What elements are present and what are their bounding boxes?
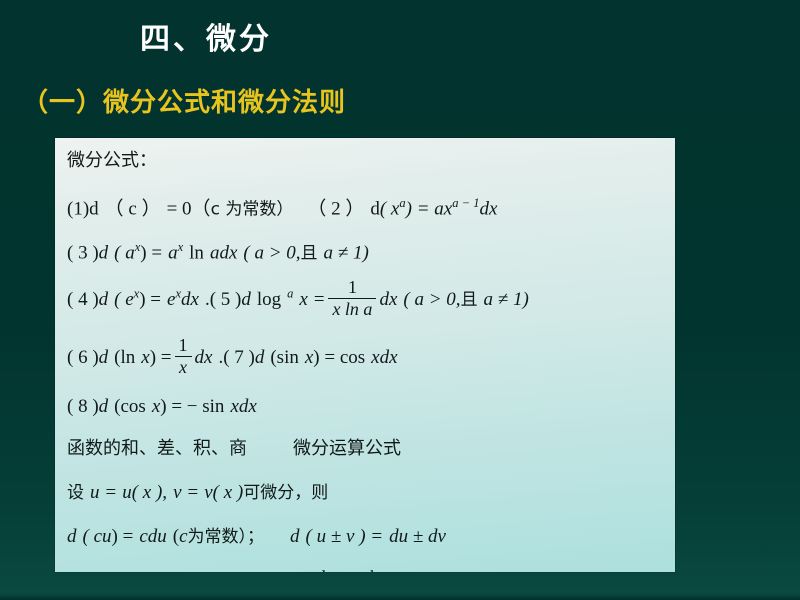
formula-3-d: d: [99, 242, 109, 263]
assume-vfn: v: [204, 482, 212, 503]
formula-6-d: d: [99, 347, 109, 368]
formula-2-dx: dx: [479, 198, 497, 219]
rule-cu-eq: ) =: [112, 526, 134, 547]
formula-8-eqsin: ) = − sin: [160, 396, 224, 417]
formula-4-close: ) =: [139, 289, 161, 310]
formula-2-d: d: [370, 198, 380, 219]
formula-3-cond: ( a > 0,: [243, 242, 300, 263]
formula-7-d: d: [255, 347, 265, 368]
formula-3-close: ) =: [140, 242, 162, 263]
rule-cu-arg: ( cu: [83, 526, 112, 547]
formula-2-rhs: ) = ax: [406, 198, 453, 219]
assume-eq1: =: [106, 482, 117, 503]
formula-1-eq: = 0（: [167, 198, 211, 219]
formula-panel: 微分公式： (1)d（ c ）= 0（c 为常数）（ 2 ）d( xa) = a…: [55, 138, 675, 572]
formula-line-6: 函数的和、差、积、商微分运算公式: [67, 434, 669, 476]
formula-3-a: a: [168, 242, 178, 263]
formula-5-label: .( 5 ): [205, 289, 241, 310]
rule-quot-arg-fraction: uv: [259, 571, 276, 573]
formula-2-exp-am1: a − 1: [452, 196, 479, 210]
formula-5-qie: 且: [461, 290, 478, 310]
formula-8-x: x: [152, 396, 160, 417]
formula-3-ln: ln: [189, 242, 204, 263]
page-title: 四、微分: [140, 20, 272, 60]
rule-quot-arg-numerator: u: [259, 571, 276, 573]
formula-1-note: c 为常数）: [211, 199, 294, 219]
formula-1-arg: （ c ）: [105, 198, 161, 219]
rule-sum-rhs: du ± dv: [389, 526, 446, 547]
rule-cu-semicolon: ；: [247, 527, 264, 547]
formula-5-cond2: a ≠ 1): [484, 289, 529, 310]
formula-7-xdx: xdx: [371, 347, 397, 368]
formula-content: 微分公式： (1)d（ c ）= 0（c 为常数）（ 2 ）d( xa) = a…: [67, 144, 669, 572]
assume-vx: ( x ): [213, 482, 244, 503]
formula-6-label: ( 6 ): [67, 347, 99, 368]
formula-6-fraction: 1x: [175, 336, 192, 377]
formula-8-d: d: [99, 396, 109, 417]
formula-3-cond2: a ≠ 1): [324, 242, 369, 263]
formula-6-ln: (ln: [114, 347, 135, 368]
formula-6-x: x: [141, 347, 149, 368]
rule-cu-rhs: cdu: [139, 526, 166, 547]
formula-4-d: d: [99, 289, 109, 310]
formula-line-5: ( 8 )d(cosx) = − sinxdx: [67, 390, 669, 434]
assume-eq2: =: [188, 482, 199, 503]
assume-she: 设: [67, 483, 84, 503]
rule-cu-note: 为常数）: [188, 527, 248, 547]
rule-cu-c: c: [179, 526, 187, 547]
rule-quot-fraction: vdu − udvv2: [304, 568, 385, 572]
formula-3-open: ( a: [114, 242, 135, 263]
formula-2-label: （ 2 ）: [307, 198, 364, 219]
formula-1-label: (1)d: [67, 198, 99, 219]
formula-3-exp-x2: x: [178, 240, 184, 254]
formula-8-label: ( 8 ): [67, 396, 99, 417]
section-subtitle: （一）微分公式和微分法则: [22, 86, 346, 120]
formula-line-8: d( cu) =cdu(c为常数）；d( u ± v ) =du ± dv: [67, 520, 669, 564]
formula-7-eqcos: ) = cos: [313, 347, 365, 368]
formula-3-adx: adx: [210, 242, 237, 263]
formula-5-base-a: a: [287, 287, 293, 301]
formula-line-9: d( uv) =vdu+udv;d(uv) =vdu − udvv2(v≠ 0): [67, 564, 669, 572]
rule-quot-numerator: vdu − udv: [304, 568, 385, 572]
formula-3-qie: 且: [301, 243, 318, 263]
assume-u: u: [90, 482, 100, 503]
rules-label-left: 函数的和、差、积、商: [67, 438, 247, 459]
slide-canvas: 四、微分 （一）微分公式和微分法则 微分公式： (1)d（ c ）= 0（c 为…: [0, 0, 800, 600]
formula-heading: 微分公式：: [67, 144, 669, 186]
formula-4-dx: dx: [181, 289, 199, 310]
formula-5-numerator: 1: [328, 278, 376, 299]
formula-line-3: ( 4 )d( ex) =exdx.( 5 )dlogax =1x ln adx…: [67, 274, 669, 332]
rules-label-right: 微分运算公式: [293, 438, 401, 459]
formula-5-dx: dx: [379, 289, 397, 310]
assume-tail: 可微分，则: [243, 483, 328, 503]
formula-line-1: (1)d（ c ）= 0（c 为常数）（ 2 ）d( xa) = axa − 1…: [67, 186, 669, 230]
formula-line-7: 设u=u( x ),v=v( x )可微分，则: [67, 476, 669, 520]
assume-ufn: u: [122, 482, 132, 503]
formula-5-d: d: [241, 289, 251, 310]
formula-6-denominator: x: [175, 357, 192, 377]
rule-sum-d: d: [290, 526, 300, 547]
formula-line-4: ( 6 )d(lnx) =1xdx.( 7 )d(sinx) = cosxdx: [67, 332, 669, 390]
rule-cu-d: d: [67, 526, 77, 547]
formula-7-label: .( 7 ): [218, 347, 254, 368]
formula-3-label: ( 3 ): [67, 242, 99, 263]
formula-2-openx: ( x: [380, 198, 400, 219]
formula-7-sin: (sin: [270, 347, 299, 368]
formula-8-cos: (cos: [114, 396, 146, 417]
formula-6-dx: dx: [195, 347, 213, 368]
assume-v: v: [173, 482, 181, 503]
formula-4-open: ( e: [114, 289, 134, 310]
formula-5-log: log: [257, 289, 281, 310]
formula-line-2: ( 3 )d( ax) =axlnadx( a > 0,且a ≠ 1): [67, 230, 669, 274]
formula-6-close: ) =: [150, 347, 172, 368]
formula-5-fraction: 1x ln a: [328, 278, 376, 319]
formula-6-numerator: 1: [175, 336, 192, 357]
formula-heading-text: 微分公式：: [67, 150, 157, 171]
assume-ux: ( x ),: [132, 482, 167, 503]
formula-4-label: ( 4 ): [67, 289, 99, 310]
formula-5-denominator: x ln a: [328, 299, 376, 319]
formula-5-xeq: x =: [299, 289, 325, 310]
rule-sum-arg: ( u ± v ) =: [306, 526, 384, 547]
formula-5-cond: ( a > 0,: [403, 289, 460, 310]
formula-8-xdx: xdx: [230, 396, 256, 417]
